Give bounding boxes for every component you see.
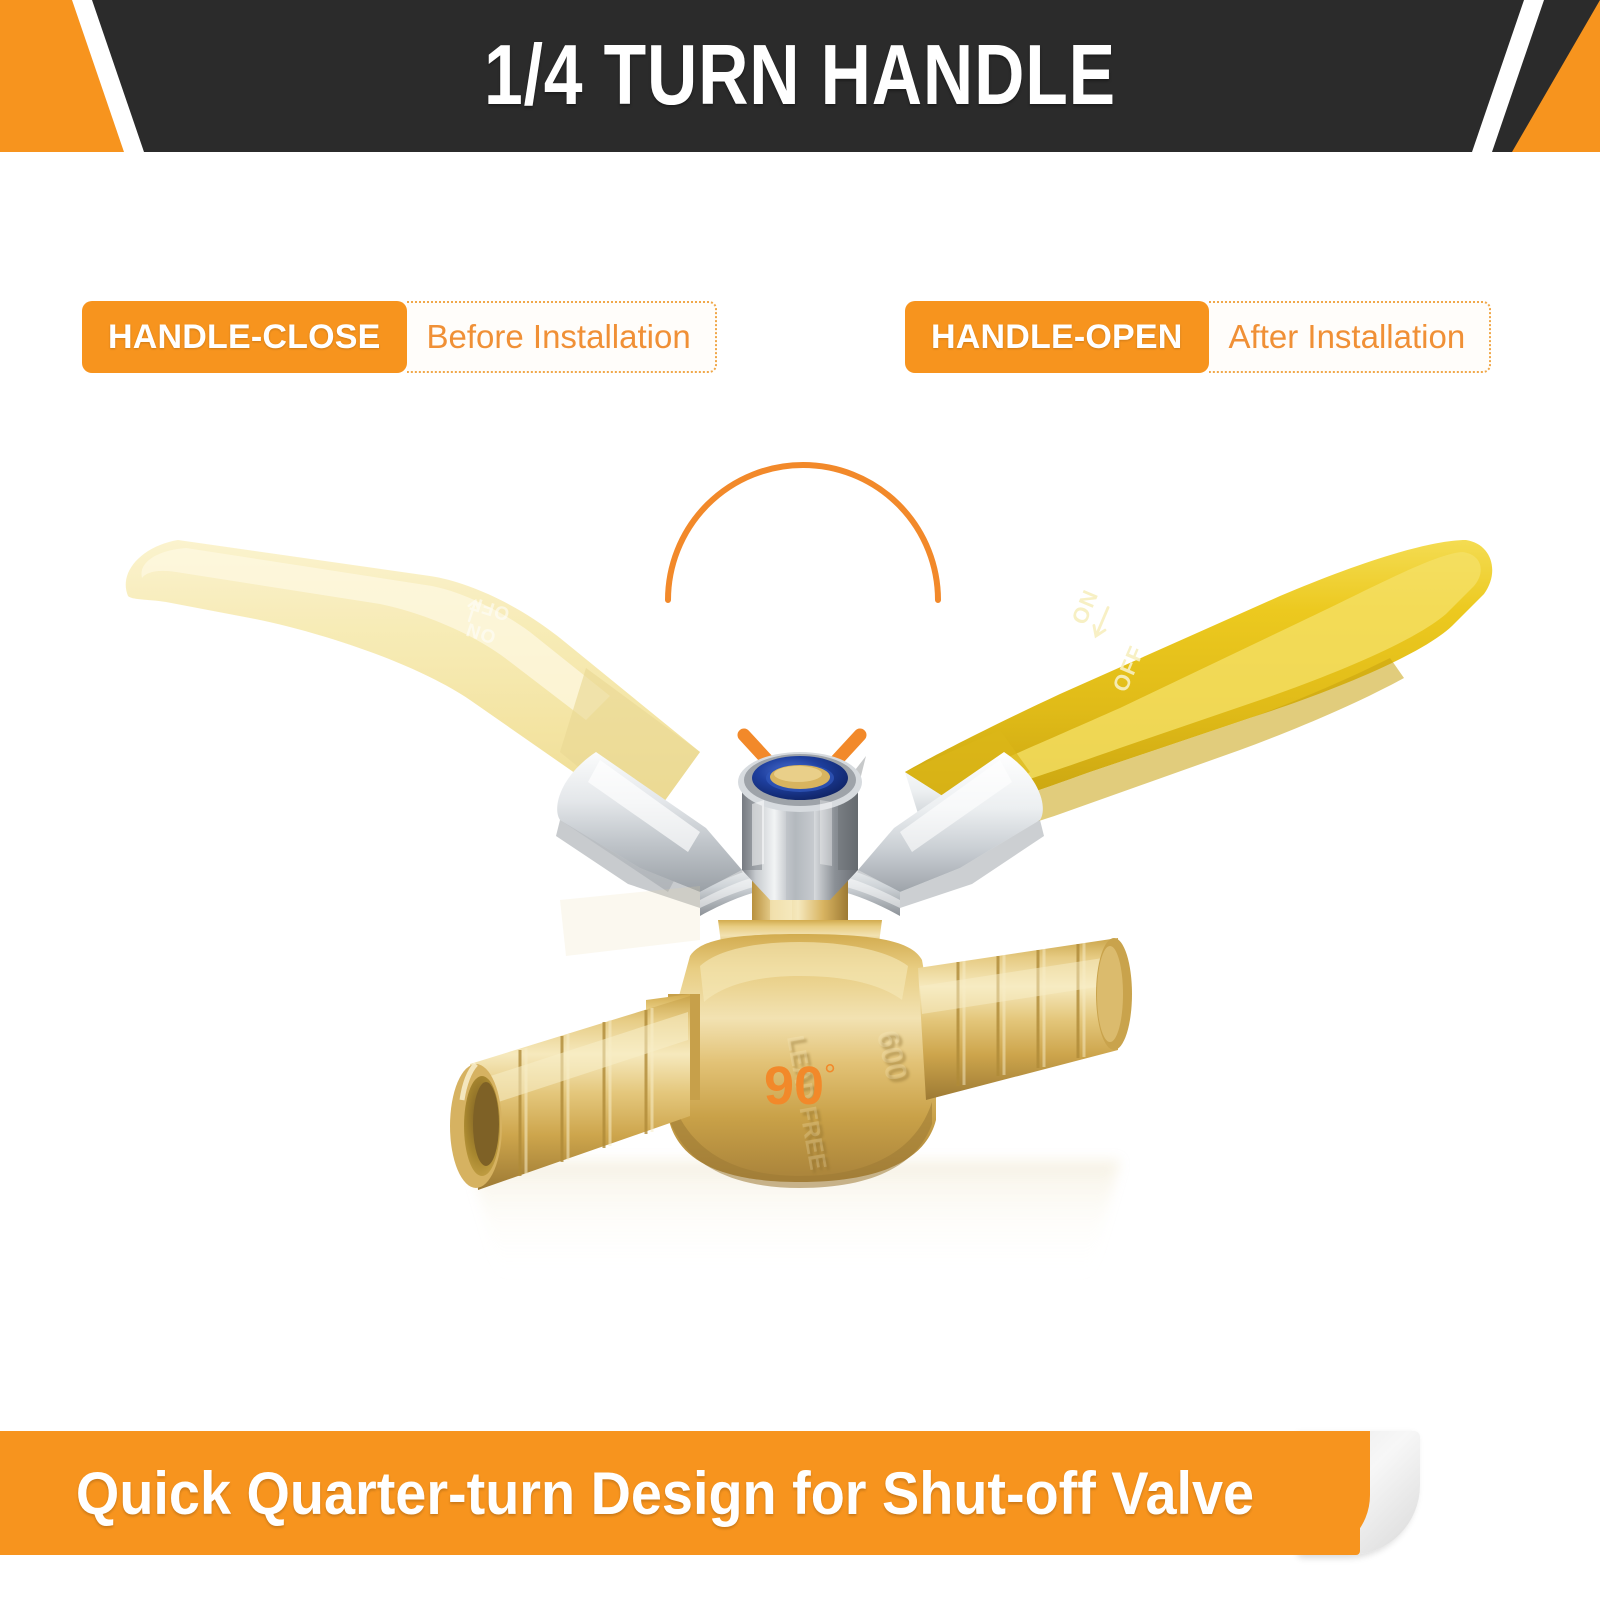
ball-valve-image: ON OFF ON OFF	[0, 400, 1600, 1350]
stem-lock-nut	[738, 752, 866, 900]
badge-handle-close-note: Before Installation	[407, 301, 717, 373]
infographic-canvas: 1/4 TURN HANDLE HANDLE-CLOSE Before Inst…	[0, 0, 1600, 1600]
product-illustration: ON OFF ON OFF	[0, 400, 1600, 1350]
badge-handle-close-pill: HANDLE-CLOSE	[82, 301, 407, 373]
svg-text:ON: ON	[1067, 586, 1104, 628]
badge-handle-close: HANDLE-CLOSE Before Installation	[82, 301, 717, 373]
page-title: 1/4 TURN HANDLE	[144, 0, 1456, 152]
ghost-valve-body	[560, 886, 700, 956]
angle-arc-annotation	[668, 465, 938, 600]
header-banner: 1/4 TURN HANDLE	[0, 0, 1600, 160]
badge-handle-open-pill: HANDLE-OPEN	[905, 301, 1209, 373]
badge-handle-open-note: After Installation	[1209, 301, 1492, 373]
footer-ribbon: Quick Quarter-turn Design for Shut-off V…	[0, 1423, 1600, 1563]
badge-row: HANDLE-CLOSE Before Installation HANDLE-…	[0, 301, 1600, 381]
footer-caption: Quick Quarter-turn Design for Shut-off V…	[47, 1431, 1284, 1555]
pex-barb-right	[918, 938, 1132, 1100]
badge-handle-open: HANDLE-OPEN After Installation	[905, 301, 1491, 373]
